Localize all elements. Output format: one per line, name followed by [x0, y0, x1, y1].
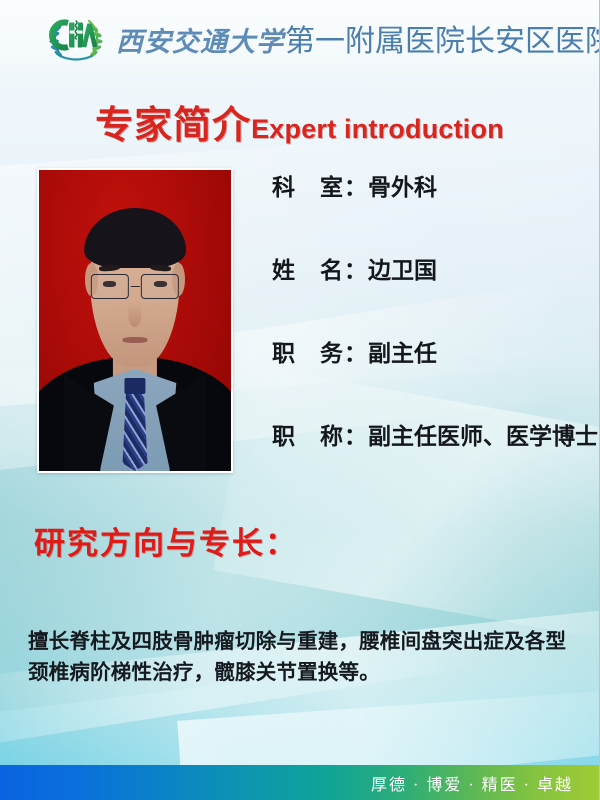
- hospital-name-university: 西安交通大学: [116, 20, 284, 59]
- poster-footer: 厚德 · 博爱 · 精医 · 卓越: [0, 765, 599, 800]
- portrait-hair: [84, 208, 186, 268]
- research-section-heading: 研究方向与专长：: [34, 518, 298, 563]
- info-row-name: 姓 名： 边卫国: [272, 251, 592, 334]
- info-row-department: 科 室： 骨外科: [272, 168, 592, 251]
- hospital-name: 西安交通大学 第一附属医院长安区医院: [116, 16, 600, 60]
- hospital-emblem-caduceus-wheat-icon: [44, 8, 108, 68]
- doctor-info-list: 科 室： 骨外科 姓 名： 边卫国 职 务： 副主任 职 称： 副主任医师、医学…: [272, 168, 592, 500]
- info-label-position: 职 务：: [272, 334, 368, 368]
- info-row-position: 职 务： 副主任: [272, 334, 592, 417]
- info-row-title: 职 称： 副主任医师、医学博士: [272, 417, 592, 500]
- doctor-portrait-frame: [37, 168, 233, 473]
- portrait-necktie: [123, 393, 148, 471]
- page-title: 专家简介Expert introduction: [0, 94, 599, 149]
- info-label-name: 姓 名：: [272, 251, 368, 285]
- info-value-position: 副主任: [368, 334, 437, 368]
- info-label-department: 科 室：: [272, 168, 368, 202]
- footer-slogan: 厚德 · 博爱 · 精医 · 卓越: [371, 771, 573, 795]
- expert-introduction-poster: 西安交通大学 第一附属医院长安区医院 专家简介Expert introducti…: [0, 0, 600, 800]
- info-value-name: 边卫国: [368, 251, 437, 285]
- page-title-cn: 专家简介: [95, 105, 251, 147]
- portrait-mouth: [123, 337, 148, 343]
- info-value-title: 副主任医师、医学博士: [368, 417, 598, 451]
- info-value-department: 骨外科: [368, 168, 437, 202]
- info-label-title: 职 称：: [272, 417, 368, 451]
- portrait-necktie-knot: [124, 378, 145, 395]
- eyeglass-lens-left: [91, 274, 129, 300]
- eyeglass-bridge: [131, 286, 140, 288]
- poster-header: 西安交通大学 第一附属医院长安区医院: [0, 0, 599, 76]
- doctor-portrait-photo: [39, 170, 231, 471]
- hospital-name-branch: 第一附属医院长安区医院: [285, 16, 600, 60]
- research-section-body: 擅长脊柱及四肢骨肿瘤切除与重建，腰椎间盘突出症及各型颈椎病阶梯性治疗，髋膝关节置…: [28, 626, 576, 688]
- eyeglass-lens-right: [141, 274, 179, 300]
- portrait-eyeglasses: [91, 274, 179, 300]
- page-title-en: Expert introduction: [251, 114, 504, 144]
